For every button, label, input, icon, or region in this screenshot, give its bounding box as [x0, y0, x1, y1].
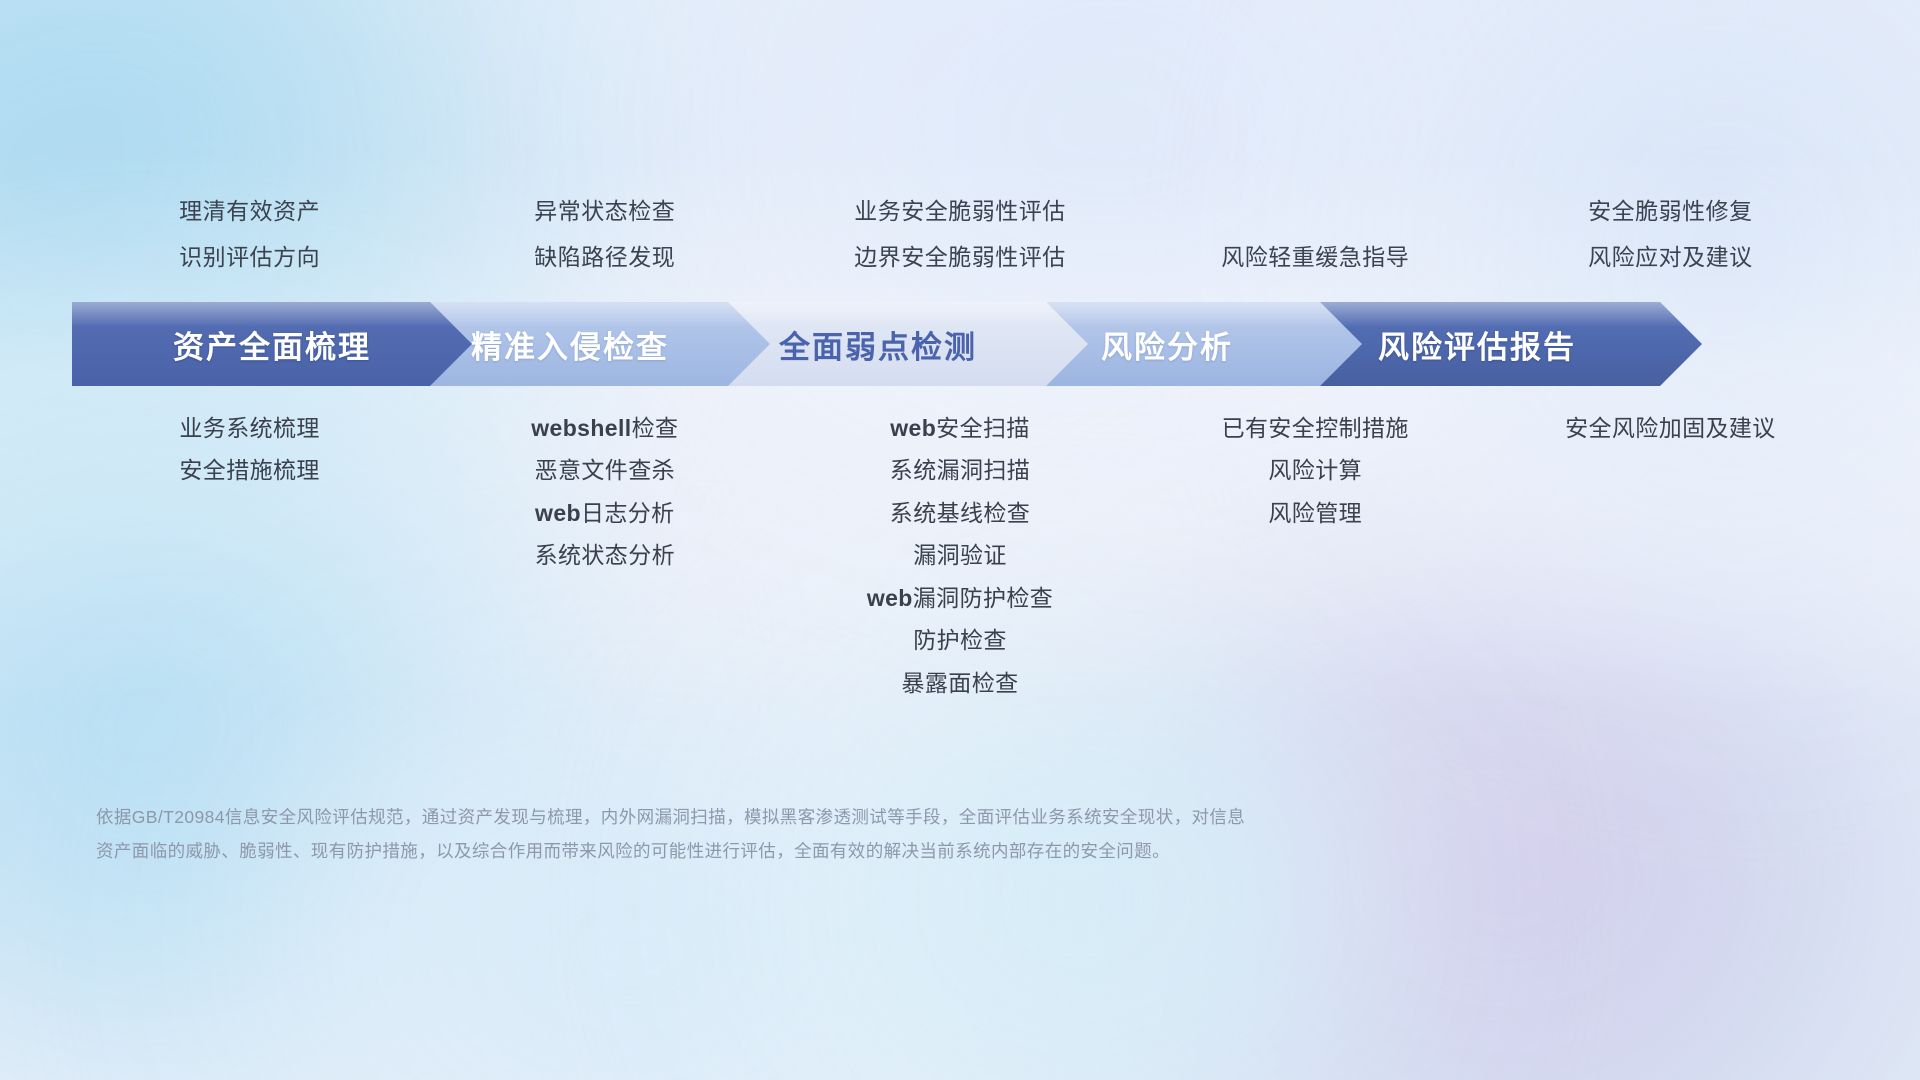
list-item-prefix: web	[535, 500, 581, 526]
list-item-label: 检查	[632, 415, 679, 441]
process-stage-label: 全面弱点检测	[779, 322, 977, 367]
list-item: 已有安全控制措施	[1222, 415, 1409, 441]
list-item: web漏洞防护检查	[867, 585, 1053, 611]
top-notes-weakness-detection: 业务安全脆弱性评估边界安全脆弱性评估	[782, 199, 1137, 270]
list-item: 防护检查	[913, 627, 1007, 653]
top-notes-assessment-report: 安全脆弱性修复风险应对及建议	[1493, 199, 1848, 270]
list-item-prefix: webshell	[531, 415, 631, 441]
note-item: 业务安全脆弱性评估	[854, 199, 1066, 224]
stage-column-asset-inventory: 理清有效资产识别评估方向业务系统梳理安全措施梳理	[72, 0, 427, 1080]
list-item: 安全措施梳理	[179, 457, 319, 483]
process-stage-label: 风险分析	[1101, 322, 1233, 367]
top-notes-risk-analysis: 风险轻重缓急指导	[1138, 245, 1493, 270]
top-notes-intrusion-check: 异常状态检查缺陷路径发现	[427, 199, 782, 270]
process-stage-label: 资产全面梳理	[173, 322, 371, 367]
task-list-risk-analysis: 已有安全控制措施风险计算风险管理	[1138, 415, 1493, 526]
list-item-label: 安全扫描	[936, 415, 1030, 441]
list-item: 系统基线检查	[890, 500, 1030, 526]
list-item-label: 日志分析	[581, 500, 675, 526]
list-item: webshell检查	[531, 415, 678, 441]
note-item: 理清有效资产	[179, 199, 320, 224]
note-item: 风险轻重缓急指导	[1221, 245, 1409, 270]
process-stage-asset-inventory[interactable]: 资产全面梳理	[72, 302, 472, 386]
list-item: 风险管理	[1268, 500, 1362, 526]
task-list-weakness-detection: web安全扫描系统漏洞扫描系统基线检查漏洞验证web漏洞防护检查防护检查暴露面检…	[782, 415, 1137, 696]
stage-column-intrusion-check: 异常状态检查缺陷路径发现webshell检查恶意文件查杀web日志分析系统状态分…	[427, 0, 782, 1080]
task-list-assessment-report: 安全风险加固及建议	[1493, 415, 1848, 441]
note-item: 安全脆弱性修复	[1588, 199, 1753, 224]
list-item: 恶意文件查杀	[535, 457, 675, 483]
process-chevron-band: 资产全面梳理精准入侵检查全面弱点检测风险分析风险评估报告	[72, 302, 1848, 386]
task-list-intrusion-check: webshell检查恶意文件查杀web日志分析系统状态分析	[427, 415, 782, 569]
stage-column-assessment-report: 安全脆弱性修复风险应对及建议安全风险加固及建议	[1493, 0, 1848, 1080]
stage-columns: 理清有效资产识别评估方向业务系统梳理安全措施梳理异常状态检查缺陷路径发现webs…	[72, 0, 1848, 1080]
process-stage-label: 精准入侵检查	[471, 322, 669, 367]
note-item: 边界安全脆弱性评估	[854, 245, 1066, 270]
list-item: 业务系统梳理	[179, 415, 319, 441]
list-item-prefix: web	[890, 415, 936, 441]
note-item: 风险应对及建议	[1588, 245, 1753, 270]
footer-line-2: 资产面临的威胁、脆弱性、现有防护措施，以及综合作用而带来风险的可能性进行评估，全…	[96, 834, 1656, 868]
footer-description: 依据GB/T20984信息安全风险评估规范，通过资产发现与梳理，内外网漏洞扫描，…	[96, 800, 1656, 868]
process-stage-label: 风险评估报告	[1378, 322, 1576, 367]
stage-column-risk-analysis: 风险轻重缓急指导已有安全控制措施风险计算风险管理	[1138, 0, 1493, 1080]
list-item: web安全扫描	[890, 415, 1030, 441]
list-item: 暴露面检查	[902, 670, 1019, 696]
stage-column-weakness-detection: 业务安全脆弱性评估边界安全脆弱性评估web安全扫描系统漏洞扫描系统基线检查漏洞验…	[782, 0, 1137, 1080]
note-item: 缺陷路径发现	[534, 245, 675, 270]
task-list-asset-inventory: 业务系统梳理安全措施梳理	[72, 415, 427, 484]
list-item-prefix: web	[867, 585, 913, 611]
list-item: 系统状态分析	[535, 542, 675, 568]
list-item-label: 漏洞防护检查	[913, 585, 1053, 611]
list-item: 安全风险加固及建议	[1565, 415, 1776, 441]
list-item: 漏洞验证	[913, 542, 1007, 568]
footer-line-1: 依据GB/T20984信息安全风险评估规范，通过资产发现与梳理，内外网漏洞扫描，…	[96, 800, 1656, 834]
note-item: 异常状态检查	[534, 199, 675, 224]
top-notes-asset-inventory: 理清有效资产识别评估方向	[72, 199, 427, 270]
list-item: 风险计算	[1268, 457, 1362, 483]
diagram-stage: 理清有效资产识别评估方向业务系统梳理安全措施梳理异常状态检查缺陷路径发现webs…	[0, 0, 1920, 1080]
list-item: 系统漏洞扫描	[890, 457, 1030, 483]
note-item: 识别评估方向	[179, 245, 320, 270]
list-item: web日志分析	[535, 500, 675, 526]
